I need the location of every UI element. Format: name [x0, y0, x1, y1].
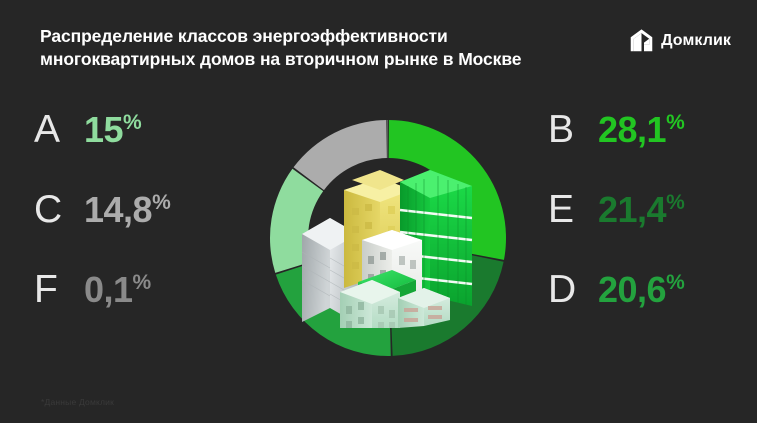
legend-left-column: A 15% C 14,8% F 0,1% — [34, 108, 284, 348]
donut-segment-f — [387, 120, 388, 158]
percent-sign: % — [133, 271, 152, 294]
city-buildings-illustration — [300, 156, 476, 328]
legend-right-column: B 28,1% E 21,4% D 20,6% — [548, 108, 757, 348]
legend-value-a: 15% — [84, 108, 142, 152]
legend-letter-c: C — [34, 188, 84, 232]
brand-logo: Домклик — [629, 28, 731, 53]
legend-item-e: E 21,4% — [548, 188, 757, 268]
legend-value-c: 14,8% — [84, 188, 171, 232]
legend-letter-f: F — [34, 268, 84, 312]
page-title-line-1: Распределение классов энергоэффективност… — [40, 25, 620, 48]
percent-sign: % — [666, 271, 685, 294]
page-title: Распределение классов энергоэффективност… — [40, 25, 620, 71]
house-icon — [629, 28, 654, 53]
percent-sign: % — [152, 191, 171, 214]
legend-value-e: 21,4% — [598, 188, 685, 232]
donut-chart — [268, 118, 508, 358]
legend-item-f: F 0,1% — [34, 268, 284, 348]
legend-item-b: B 28,1% — [548, 108, 757, 188]
page-title-line-2: многоквартирных домов на вторичном рынке… — [40, 48, 620, 71]
legend-letter-d: D — [548, 268, 598, 312]
legend-value-d: 20,6% — [598, 268, 685, 312]
header: Распределение классов энергоэффективност… — [0, 0, 757, 88]
legend-item-d: D 20,6% — [548, 268, 757, 348]
legend-value-f: 0,1% — [84, 268, 151, 312]
percent-sign: % — [123, 111, 142, 134]
legend-value-b: 28,1% — [598, 108, 685, 152]
brand-logo-text: Домклик — [661, 32, 731, 50]
legend-letter-a: A — [34, 108, 84, 152]
legend-letter-e: E — [548, 188, 598, 232]
legend-letter-b: B — [548, 108, 598, 152]
footnote: *Данные Домклик — [41, 397, 114, 407]
legend-item-a: A 15% — [34, 108, 284, 188]
percent-sign: % — [666, 111, 685, 134]
legend-item-c: C 14,8% — [34, 188, 284, 268]
percent-sign: % — [666, 191, 685, 214]
